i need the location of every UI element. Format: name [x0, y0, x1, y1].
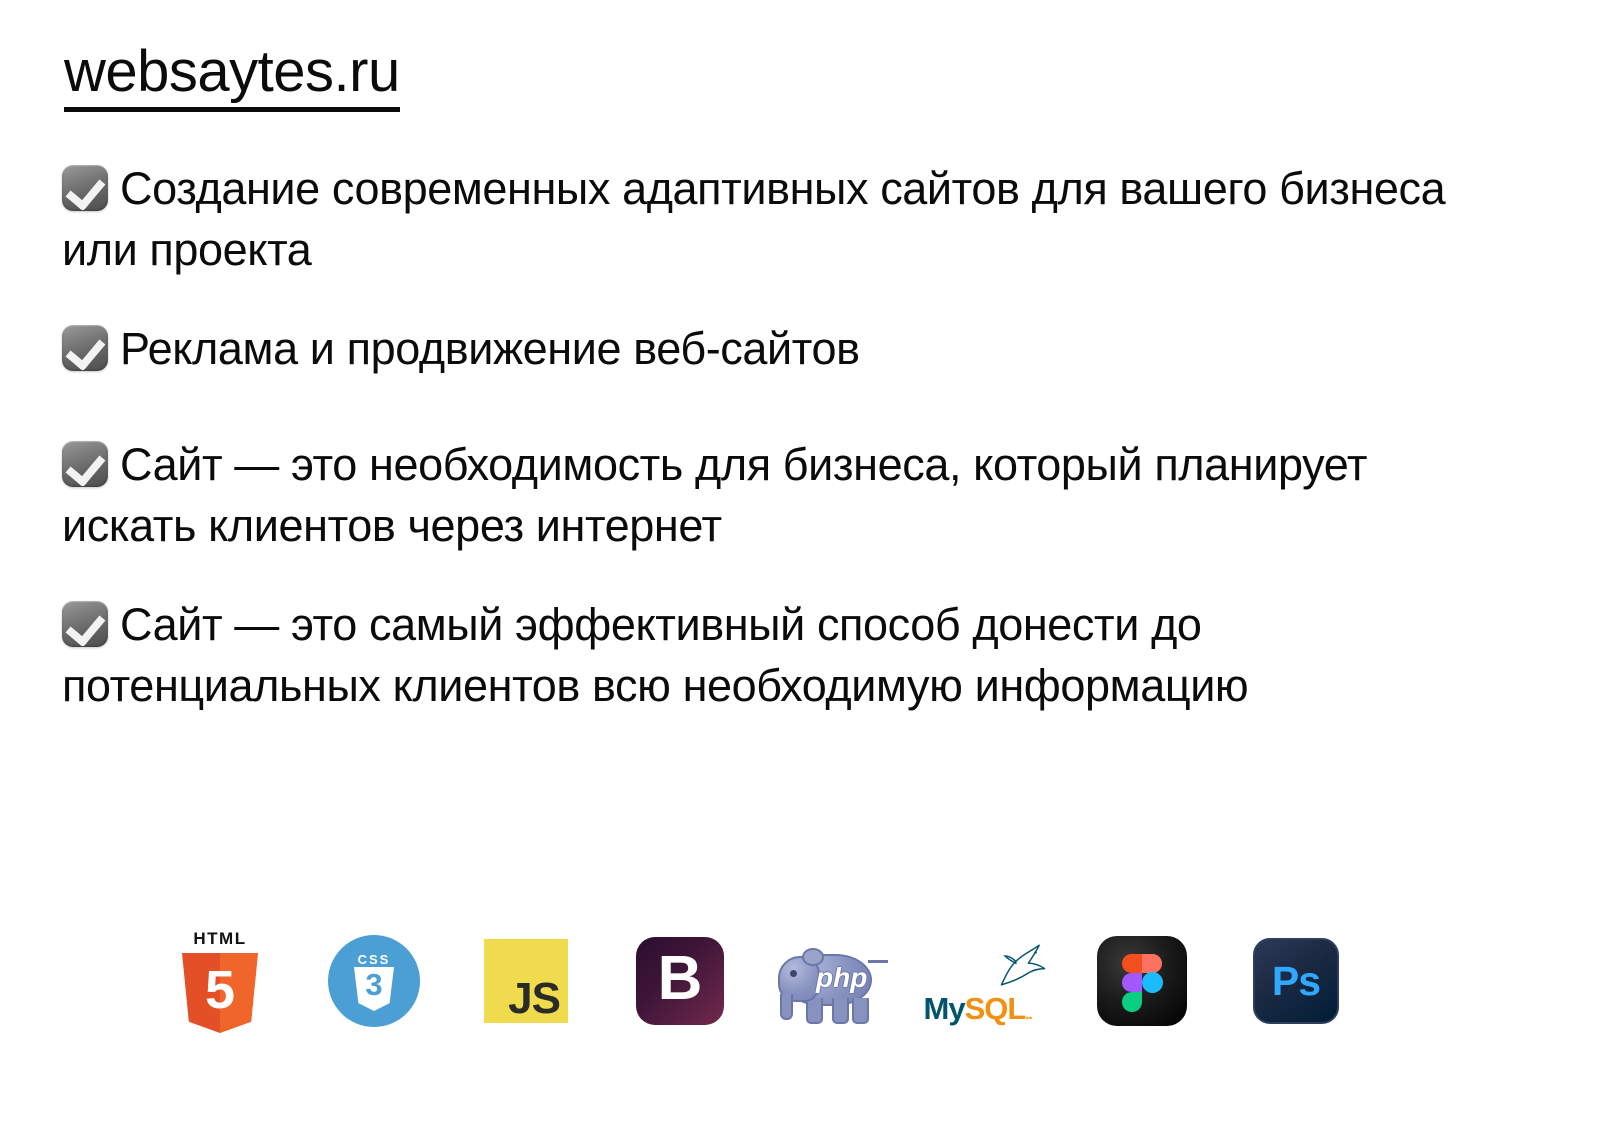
html5-wordmark: HTML [178, 929, 262, 949]
mysql-wordmark: MySQL.. [924, 993, 1032, 1024]
mysql-sql-label: SQL [965, 991, 1026, 1026]
javascript-logo: JS [472, 918, 580, 1044]
checked-checkbox-icon [62, 441, 108, 487]
list-item-label: Сайт — это необходимость для бизнеса, ко… [62, 439, 1367, 551]
figma-shape-top-right [1142, 954, 1162, 973]
figma-shape-mid-right [1142, 972, 1163, 993]
figma-shape-top-left [1122, 954, 1142, 973]
css3-wordmark: CSS [328, 952, 420, 967]
figma-shape-bottom-left [1122, 992, 1142, 1012]
css3-logo: CSS 3 [320, 918, 428, 1044]
figma-shape-mid-left [1122, 973, 1142, 992]
list-item: Создание современных адаптивных сайтов д… [62, 158, 1482, 280]
page-title-container: websaytes.ru [64, 42, 400, 112]
html5-version-number: 5 [178, 963, 262, 1017]
css3-circle-icon: CSS 3 [328, 935, 420, 1027]
bootstrap-label: B [636, 937, 724, 1025]
list-item: Сайт — это необходимость для бизнеса, ко… [62, 434, 1482, 556]
mysql-logo: MySQL.. [920, 918, 1055, 1044]
slide-root: websaytes.ru Создание современных адапти… [0, 0, 1600, 1131]
feature-list: Создание современных адаптивных сайтов д… [62, 158, 1482, 716]
figma-logo [1088, 918, 1196, 1044]
list-item: Реклама и продвижение веб-сайтов [62, 318, 1482, 379]
php-elephant-icon: php [776, 938, 884, 1024]
list-item-label: Создание современных адаптивных сайтов д… [62, 163, 1445, 275]
checked-checkbox-icon [62, 165, 108, 211]
php-logo: php [770, 918, 890, 1044]
mysql-dots: .. [1025, 1006, 1031, 1023]
list-item-label: Сайт — это самый эффективный способ доне… [62, 599, 1248, 711]
list-item-label: Реклама и продвижение веб-сайтов [120, 323, 860, 374]
php-label: php [816, 964, 867, 992]
page-title: websaytes.ru [64, 42, 400, 112]
technology-logo-strip: HTML 5 CSS 3 JS B [0, 918, 1600, 1048]
javascript-label: JS [508, 977, 560, 1021]
html5-logo: HTML 5 [166, 918, 274, 1044]
bootstrap-logo: B [626, 918, 734, 1044]
checked-checkbox-icon [62, 601, 108, 647]
css3-version-number: 3 [354, 968, 394, 1002]
photoshop-label: Ps [1255, 940, 1337, 1022]
list-item: Сайт — это самый эффективный способ доне… [62, 594, 1482, 716]
figma-square-icon [1097, 936, 1187, 1026]
checked-checkbox-icon [62, 325, 108, 371]
photoshop-square-icon: Ps [1253, 938, 1339, 1024]
photoshop-logo: Ps [1242, 918, 1350, 1044]
mysql-my-label: My [924, 991, 965, 1026]
javascript-square-icon: JS [484, 939, 568, 1023]
bootstrap-square-icon: B [636, 937, 724, 1025]
dolphin-icon [996, 938, 1050, 992]
